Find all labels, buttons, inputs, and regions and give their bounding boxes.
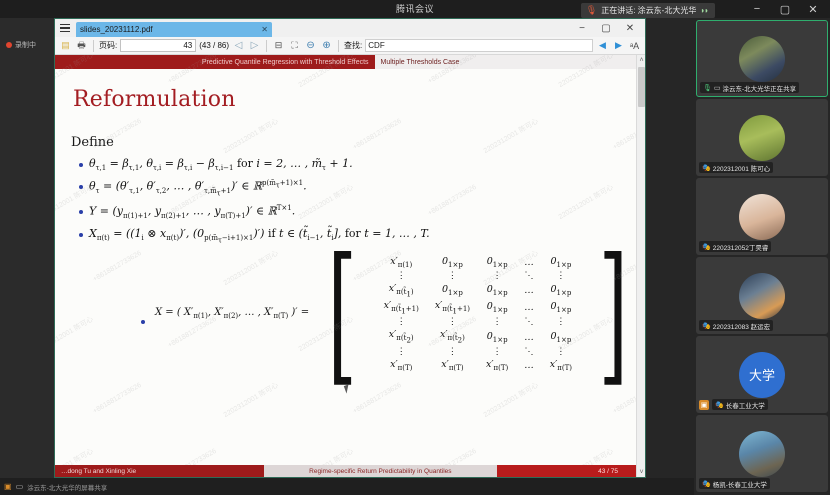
matrix-cell: 01×p bbox=[478, 255, 516, 270]
share-bottom-bar: ▣ ▭ 涂云东-北大光华的屏幕共享 bbox=[0, 478, 694, 495]
slide-footer: …dong Tu and Xinling Xie Regime-specific… bbox=[55, 465, 636, 477]
matrix-cell: x′π(T) bbox=[376, 358, 427, 373]
watermark-text: 2202312001 陈可心 bbox=[55, 314, 95, 354]
toolbar-divider-2 bbox=[266, 40, 267, 52]
watermark-text: +8618812733626 bbox=[352, 118, 403, 151]
cam-icon: ▭ bbox=[714, 84, 721, 92]
host-badge-icon: ▣ bbox=[4, 482, 12, 491]
bullet-list: θτ,1 = βτ,1, θτ,i = βτ,i − βτ,i−1 for i … bbox=[79, 157, 636, 252]
find-next-icon[interactable]: ▶ bbox=[612, 39, 625, 52]
matrix-cell: x′π(T) bbox=[542, 358, 580, 373]
matrix-cell: x′π(t̃1+1) bbox=[427, 299, 478, 316]
matrix-cell: ⋮ bbox=[427, 316, 478, 328]
speaking-label: 正在讲话: 涂云东-北大光华 bbox=[601, 5, 696, 16]
record-dot-icon bbox=[6, 42, 12, 48]
zoom-in-icon[interactable]: ⊕ bbox=[320, 39, 333, 52]
matrix-cell: ⋮ bbox=[542, 346, 580, 358]
slide-header-left: Predictive Quantile Regression with Thre… bbox=[55, 55, 375, 69]
participant-tile[interactable]: 🎙▭涂云东-北大光华正在共享 bbox=[696, 20, 828, 97]
slide-header-bar: Predictive Quantile Regression with Thre… bbox=[55, 55, 636, 69]
matrix-left-side: X = ( X′π(1), X′π(2), … , X′π(T) )′ = bbox=[155, 307, 309, 320]
matrix-cell: x′π(1) bbox=[376, 255, 427, 270]
matrix-cell: ⋱ bbox=[516, 346, 542, 358]
list-item: Xπ(t) = ((1i ⊗ xπ(t))′, (0p(m̃τ−i+1)×1)′… bbox=[79, 227, 636, 245]
list-item: θτ = (θ′τ,1, θ′τ,2, … , θ′τ,m̃τ+1)′ ∈ ℝp… bbox=[79, 179, 636, 197]
meeting-maximize-button[interactable]: ▢ bbox=[772, 0, 798, 18]
bracket-left-icon: [ bbox=[328, 273, 357, 356]
mic-icon: 🎙 bbox=[703, 84, 712, 92]
recording-indicator: 录制中 bbox=[6, 40, 36, 50]
bullet-dot-icon bbox=[79, 233, 83, 237]
pdf-page-canvas: Predictive Quantile Regression with Thre… bbox=[55, 55, 636, 477]
matrix-row: ⋮⋮⋮⋱⋮ bbox=[376, 346, 580, 358]
watermark-text: +8618812733626 bbox=[612, 118, 636, 151]
rose-icon: 🎭 bbox=[702, 322, 711, 330]
matrix-row: ⋮⋮⋮⋱⋮ bbox=[376, 270, 580, 282]
matrix-cell: 01×p bbox=[542, 282, 580, 299]
matrix-cell: 01×p bbox=[478, 328, 516, 345]
matrix-cell: ⋮ bbox=[427, 270, 478, 282]
rose-icon: 🎭 bbox=[715, 401, 724, 409]
find-input[interactable]: CDF bbox=[365, 39, 593, 52]
participant-name-pill: 🎭2202312001 陈可心 bbox=[699, 162, 773, 173]
slide-header-right: Multiple Thresholds Case bbox=[375, 55, 636, 69]
matrix-cell: 01×p bbox=[542, 255, 580, 270]
host-badge-icon: ▣ bbox=[699, 400, 709, 410]
matrix-row: x′π(t̃2)x′π(t̃2)01×p…01×p bbox=[376, 328, 580, 345]
watermark-text: +8618812733626 bbox=[352, 382, 403, 415]
matrix-cell: ⋮ bbox=[376, 346, 427, 358]
bracket-right-icon: ] bbox=[599, 273, 628, 356]
list-item: θτ,1 = βτ,1, θτ,i = βτ,i − βτ,i−1 for i … bbox=[79, 157, 636, 172]
matrix-table: x′π(1)01×p01×p…01×p⋮⋮⋮⋱⋮x′π(t̃1)01×p01×p… bbox=[376, 255, 580, 373]
bullet-dot-icon bbox=[79, 185, 83, 189]
participant-name-pill: 🎭长春工业大学 bbox=[712, 399, 768, 410]
watermark-text: 2202312001 陈可心 bbox=[222, 380, 281, 420]
rose-icon: 🎭 bbox=[702, 480, 711, 488]
slide-header-right-label: Multiple Thresholds Case bbox=[381, 59, 460, 66]
audio-wave-icon: ◗◗ bbox=[700, 6, 708, 15]
pdf-tab[interactable]: slides_20231112.pdf ✕ bbox=[76, 22, 272, 37]
bullet-text: θτ,1 = βτ,1, θτ,i = βτ,i − βτ,i−1 for i … bbox=[89, 157, 353, 172]
close-icon[interactable]: ✕ bbox=[257, 25, 268, 34]
speaking-indicator: 🎙 正在讲话: 涂云东-北大光华 ◗◗ bbox=[581, 3, 715, 18]
matrix-cell: 01×p bbox=[542, 328, 580, 345]
slide-footer-title-label: Regime-specific Return Predictability in… bbox=[309, 468, 451, 475]
participant-name-pill: 🎭2202312083 赵运宏 bbox=[699, 320, 773, 331]
matrix-row: ⋮⋮⋮⋱⋮ bbox=[376, 316, 580, 328]
page-number-input[interactable]: 43 bbox=[120, 39, 196, 52]
matrix-cell: ⋮ bbox=[478, 316, 516, 328]
find-label: 查找: bbox=[344, 40, 362, 51]
recording-label: 录制中 bbox=[15, 40, 36, 50]
avatar bbox=[739, 36, 785, 82]
pdf-viewer-window: slides_20231112.pdf ✕ − ▢ ✕ ▤ 🖶 页码: 43 (… bbox=[55, 19, 645, 477]
participant-name: 杨凯-长春工业大学 bbox=[713, 479, 767, 489]
bullet-dot-icon bbox=[79, 210, 83, 214]
scroll-down-icon[interactable]: ˅ bbox=[637, 467, 646, 477]
app-root: 腾讯会议 🎙 正在讲话: 涂云东-北大光华 ◗◗ − ▢ ✕ 录制中 slide… bbox=[0, 0, 830, 495]
screen-share-icon: ▭ bbox=[16, 482, 24, 491]
matrix-cell: 01×p bbox=[478, 282, 516, 299]
avatar bbox=[739, 273, 785, 319]
participant-name-pill: 🎙▭涂云东-北大光华正在共享 bbox=[700, 82, 799, 93]
slide-footer-authors-label: …dong Tu and Xinling Xie bbox=[61, 468, 136, 475]
matrix-cell: ⋮ bbox=[542, 270, 580, 282]
matrix-cell: ⋮ bbox=[478, 270, 516, 282]
participant-name: 2202312052丁昊睿 bbox=[713, 242, 769, 252]
matrix-cell: x′π(t̃1+1) bbox=[376, 299, 427, 316]
matrix-cell: 01×p bbox=[427, 282, 478, 299]
bullet-text: Xπ(t) = ((1i ⊗ xπ(t))′, (0p(m̃τ−i+1)×1)′… bbox=[89, 227, 430, 245]
matrix-cell: x′π(t̃2) bbox=[427, 328, 478, 345]
slide-footer-page-label: 43 / 75 bbox=[598, 468, 618, 475]
matrix-body: x′π(1)01×p01×p…01×p⋮⋮⋮⋱⋮x′π(t̃1)01×p01×p… bbox=[376, 255, 580, 373]
participant-name: 长春工业大学 bbox=[726, 400, 765, 410]
next-page-icon[interactable]: ▷ bbox=[248, 39, 261, 52]
matrix-cell: ⋱ bbox=[516, 316, 542, 328]
matrix-cell: … bbox=[516, 328, 542, 345]
matrix-cell: … bbox=[516, 255, 542, 270]
matrix-cell: x′π(T) bbox=[478, 358, 516, 373]
watermark-text: +8618812733626 bbox=[92, 250, 143, 283]
matrix-cell: x′π(t̃1) bbox=[376, 282, 427, 299]
matrix-cell: x′π(t̃2) bbox=[376, 328, 427, 345]
watermark-text: 2202312001 陈可心 bbox=[222, 116, 281, 156]
participant-tile[interactable]: 🎭2202312052丁昊睿 bbox=[696, 178, 828, 255]
matrix-cell: 01×p bbox=[427, 255, 478, 270]
toolbar-divider bbox=[93, 40, 94, 52]
pdf-minimize-button[interactable]: − bbox=[571, 19, 593, 37]
matrix-row: x′π(t̃1)01×p01×p…01×p bbox=[376, 282, 580, 299]
watermark-text: 2202312001 陈可心 bbox=[482, 380, 541, 420]
matrix-cell: ⋮ bbox=[376, 316, 427, 328]
matrix-row: x′π(t̃1+1)x′π(t̃1+1)01×p…01×p bbox=[376, 299, 580, 316]
participant-name: 2202312001 陈可心 bbox=[713, 163, 770, 173]
previous-page-icon[interactable]: ◁ bbox=[232, 39, 245, 52]
pdf-maximize-button[interactable]: ▢ bbox=[595, 19, 617, 37]
slide-title: Reformulation bbox=[73, 87, 236, 112]
pdf-tabbar: slides_20231112.pdf ✕ − ▢ ✕ bbox=[55, 19, 645, 37]
slide-header-left-label: Predictive Quantile Regression with Thre… bbox=[202, 59, 369, 66]
meeting-titlebar: 腾讯会议 🎙 正在讲话: 涂云东-北大光华 ◗◗ − ▢ ✕ bbox=[0, 0, 830, 18]
matrix-cell: x′π(T) bbox=[427, 358, 478, 373]
bullet-dot-icon-empty bbox=[141, 320, 145, 324]
rose-icon: 🎭 bbox=[702, 243, 711, 251]
matrix-row: x′π(1)01×p01×p…01×p bbox=[376, 255, 580, 270]
page-number-label: 页码: bbox=[99, 40, 117, 51]
matrix-cell: … bbox=[516, 299, 542, 316]
pdf-scrollbar[interactable]: ˄ ˅ bbox=[636, 55, 645, 477]
scrollbar-thumb[interactable] bbox=[638, 67, 645, 107]
meeting-close-button[interactable]: ✕ bbox=[800, 0, 826, 18]
pdf-tab-label: slides_20231112.pdf bbox=[80, 25, 257, 34]
participant-tile[interactable]: 🎭2202312001 陈可心 bbox=[696, 99, 828, 176]
rose-icon: 🎭 bbox=[702, 164, 711, 172]
document-icon[interactable]: ▤ bbox=[59, 39, 72, 52]
menu-icon[interactable] bbox=[57, 19, 73, 37]
slide-footer-title: Regime-specific Return Predictability in… bbox=[264, 465, 496, 477]
avatar: 大学 bbox=[739, 352, 785, 398]
page-total-label: (43 / 86) bbox=[199, 41, 229, 50]
matrix-cell: ⋱ bbox=[516, 270, 542, 282]
list-item: Y = (yπ(1)+1, yπ(2)+1, … , yπ(T)+1)′ ∈ ℝ… bbox=[79, 204, 636, 220]
matrix-cell: ⋮ bbox=[376, 270, 427, 282]
participant-name-pill: 🎭杨凯-长春工业大学 bbox=[699, 478, 770, 489]
fit-width-icon[interactable]: ⊟ bbox=[272, 39, 285, 52]
matrix-row: x′π(T)x′π(T)x′π(T)…x′π(T) bbox=[376, 358, 580, 373]
matrix-cell: ⋮ bbox=[427, 346, 478, 358]
participant-tile[interactable]: 大学▣🎭长春工业大学 bbox=[696, 336, 828, 413]
participant-rail: 🎙▭涂云东-北大光华正在共享🎭2202312001 陈可心🎭2202312052… bbox=[694, 18, 830, 495]
participant-name: 涂云东-北大光华正在共享 bbox=[723, 83, 797, 93]
share-presenter-label: 涂云东-北大光华的屏幕共享 bbox=[27, 482, 107, 492]
slide: Predictive Quantile Regression with Thre… bbox=[55, 55, 636, 477]
matrix-cell: … bbox=[516, 282, 542, 299]
zoom-out-icon[interactable]: ⊖ bbox=[304, 39, 317, 52]
matrix-cell: ⋮ bbox=[542, 316, 580, 328]
pdf-close-button[interactable]: ✕ bbox=[619, 19, 641, 37]
find-previous-icon[interactable]: ◀ bbox=[596, 39, 609, 52]
pdf-toolbar: ▤ 🖶 页码: 43 (43 / 86) ◁ ▷ ⊟ ⛶ ⊖ ⊕ 查找: CDF… bbox=[55, 37, 645, 55]
print-icon[interactable]: 🖶 bbox=[75, 39, 88, 52]
toolbar-divider-3 bbox=[338, 40, 339, 52]
meeting-minimize-button[interactable]: − bbox=[744, 0, 770, 18]
avatar bbox=[739, 115, 785, 161]
participant-tile[interactable]: 🎭2202312083 赵运宏 bbox=[696, 257, 828, 334]
matrix-equation: X = ( X′π(1), X′π(2), … , X′π(T) )′ = [ … bbox=[155, 255, 636, 373]
watermark-text: 2202312001 陈可心 bbox=[482, 116, 541, 156]
left-sidebar-strip: 录制中 bbox=[0, 18, 54, 478]
bullet-dot-icon bbox=[79, 163, 83, 167]
avatar bbox=[739, 194, 785, 240]
match-case-icon[interactable]: ᵃA bbox=[628, 39, 641, 52]
shared-screen-area: slides_20231112.pdf ✕ − ▢ ✕ ▤ 🖶 页码: 43 (… bbox=[54, 18, 646, 478]
participant-name: 2202312083 赵运宏 bbox=[713, 321, 770, 331]
bullet-text: θτ = (θ′τ,1, θ′τ,2, … , θ′τ,m̃τ+1)′ ∈ ℝp… bbox=[89, 179, 307, 197]
matrix-cell: 01×p bbox=[542, 299, 580, 316]
matrix-cell: … bbox=[516, 358, 542, 373]
slide-footer-page: 43 / 75 bbox=[497, 465, 636, 477]
participant-name-pill: 🎭2202312052丁昊睿 bbox=[699, 241, 771, 252]
fit-page-icon[interactable]: ⛶ bbox=[288, 39, 301, 52]
scroll-up-icon[interactable]: ˄ bbox=[637, 55, 646, 65]
avatar bbox=[739, 431, 785, 477]
watermark-text: +8618812733626 bbox=[92, 382, 143, 415]
slide-footer-authors: …dong Tu and Xinling Xie bbox=[55, 465, 264, 477]
microphone-icon: 🎙 bbox=[586, 5, 597, 16]
matrix-cell: ⋮ bbox=[478, 346, 516, 358]
matrix-cell: 01×p bbox=[478, 299, 516, 316]
bullet-text: Y = (yπ(1)+1, yπ(2)+1, … , yπ(T)+1)′ ∈ ℝ… bbox=[89, 204, 295, 220]
define-heading: Define bbox=[71, 135, 114, 150]
participant-tile[interactable]: 🎭杨凯-长春工业大学 bbox=[696, 415, 828, 492]
